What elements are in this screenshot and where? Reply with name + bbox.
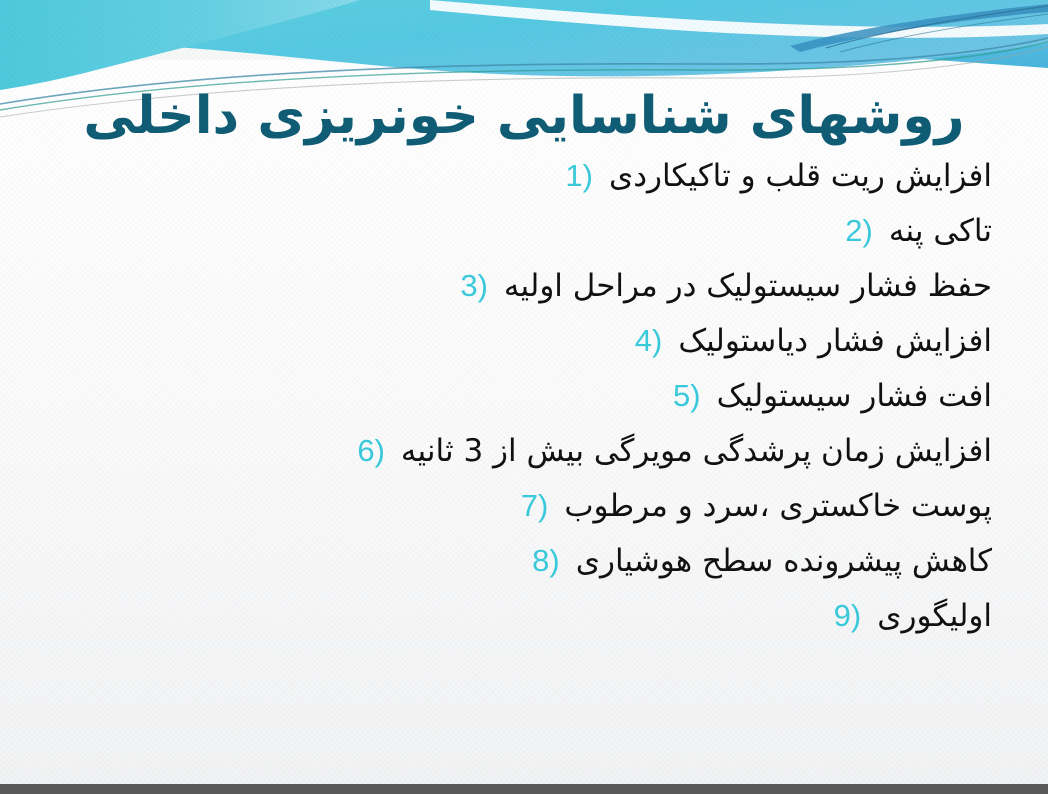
list-item: افزایش ریت قلب و تاکیکاردی 1) xyxy=(40,160,992,215)
list-item: افت فشار سیستولیک 5) xyxy=(40,380,992,435)
list-item: حفظ فشار سیستولیک در مراحل اولیه 3) xyxy=(40,270,992,325)
list-item-text: پوست خاکستری ،سرد و مرطوب xyxy=(564,491,992,522)
slide-content-body: افزایش ریت قلب و تاکیکاردی 1) تاکی پنه 2… xyxy=(40,160,992,655)
list-item-marker: 5) xyxy=(673,380,701,411)
list-item-marker: 9) xyxy=(834,600,862,631)
page-title: روشهای شناسایی خونریزی داخلی xyxy=(0,87,1048,145)
footer-bar xyxy=(0,784,1048,794)
list-item-marker: 8) xyxy=(532,545,560,576)
list-item-text: حفظ فشار سیستولیک در مراحل اولیه xyxy=(504,271,992,302)
list-item-text: اولیگوری xyxy=(877,601,992,632)
list-item: پوست خاکستری ،سرد و مرطوب 7) xyxy=(40,490,992,545)
list-item-marker: 3) xyxy=(460,270,488,301)
presentation-slide: روشهای شناسایی خونریزی داخلی افزایش ریت … xyxy=(0,0,1048,794)
list-item-marker: 6) xyxy=(357,435,385,466)
list-item-text: کاهش پیشرونده سطح هوشیاری xyxy=(576,546,992,577)
list-item: افزایش فشار دیاستولیک 4) xyxy=(40,325,992,380)
list-item-marker: 4) xyxy=(635,325,663,356)
list-item: تاکی پنه 2) xyxy=(40,215,992,270)
list-item: افزایش زمان پرشدگی مویرگی بیش از 3 ثانیه… xyxy=(40,435,992,490)
list-item-text: افت فشار سیستولیک xyxy=(717,381,992,412)
list-item: اولیگوری 9) xyxy=(40,600,992,655)
list-item: کاهش پیشرونده سطح هوشیاری 8) xyxy=(40,545,992,600)
list-item-marker: 7) xyxy=(521,490,549,521)
numbered-list: افزایش ریت قلب و تاکیکاردی 1) تاکی پنه 2… xyxy=(40,160,992,655)
list-item-text: افزایش زمان پرشدگی مویرگی بیش از 3 ثانیه xyxy=(401,436,992,467)
list-item-text: تاکی پنه xyxy=(889,216,992,247)
list-item-text: افزایش فشار دیاستولیک xyxy=(678,326,992,357)
list-item-marker: 1) xyxy=(565,160,593,191)
list-item-marker: 2) xyxy=(845,215,873,246)
list-item-text: افزایش ریت قلب و تاکیکاردی xyxy=(609,161,992,192)
